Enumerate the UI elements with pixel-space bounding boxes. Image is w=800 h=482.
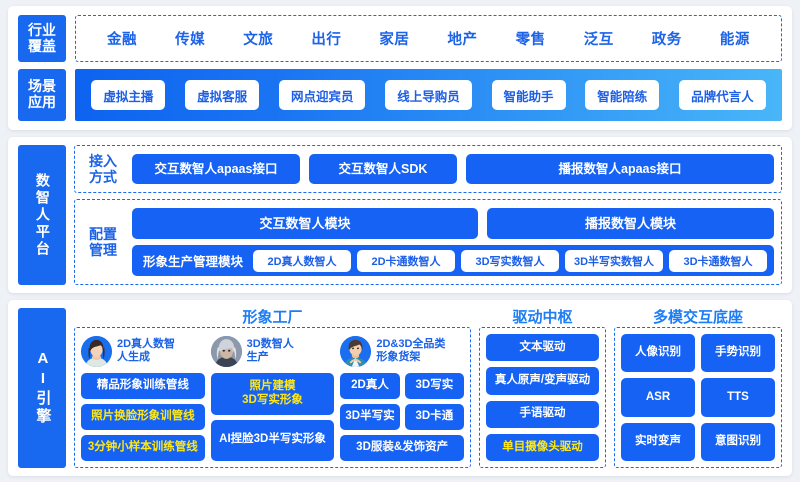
factory-group-heading: 3D数智人生产 [247,338,294,364]
factory-group-2d-real-person: 2D真人数智人生成 精品形象训练管线 照片换脸形象训管线 3分钟小样本训练管线 [81,334,205,461]
scene-item[interactable]: 智能陪练 [585,80,659,110]
production-item[interactable]: 3D半写实数智人 [565,250,663,272]
config-label-line-2: 管理 [82,242,124,258]
presenter-avatar-icon [340,336,371,367]
multimodal-base-title: 多模交互底座 [614,308,782,327]
factory-button-faceswap-pipeline[interactable]: 照片换脸形象训管线 [81,404,205,430]
multimodal-row: 实时变声 意图识别 [621,423,775,461]
scene-label-line-1: 场景 [28,79,56,95]
industry-label-line-1: 行业 [28,23,56,39]
multimodal-grid: 人像识别 手势识别 ASR TTS 实时变声 意图识别 [621,334,775,461]
industry-and-scene-section: 行业 覆盖 金融 传媒 文旅 出行 家居 地产 零售 泛互 政务 能源 场景 [8,6,792,130]
industry-item[interactable]: 泛互 [584,28,614,49]
config-module-interactive[interactable]: 交互数智人模块 [132,208,478,239]
scene-application-label: 场景 应用 [18,69,66,121]
drive-hub-title: 驱动中枢 [479,308,606,327]
asset-shelf-row: 2D真人 3D写实 [340,373,464,399]
access-method-label: 接入 方式 [82,153,124,185]
ai-engine-section: AI引擎 形象工厂 [8,300,792,476]
industry-coverage-row: 行业 覆盖 金融 传媒 文旅 出行 家居 地产 零售 泛互 政务 能源 [18,15,782,62]
industry-coverage-label: 行业 覆盖 [18,15,66,62]
config-label-line-1: 配置 [82,226,124,242]
multimodal-item-asr[interactable]: ASR [621,378,695,416]
industry-item[interactable]: 能源 [720,28,750,49]
config-management-block: 配置 管理 交互数智人模块 播报数智人模块 形象生产管理模块 2D真人数智人 2… [74,199,782,285]
access-item-sdk[interactable]: 交互数智人SDK [309,154,457,184]
multimodal-row: 人像识别 手势识别 [621,334,775,372]
multimodal-base-column: 多模交互底座 人像识别 手势识别 ASR TTS 实时变声 意 [614,308,782,468]
industry-label-line-2: 覆盖 [28,39,56,55]
factory-group-buttons: 照片建模3D写实形象 AI捏脸3D半写实形象 [211,373,335,461]
factory-button-ai-face-sculpt[interactable]: AI捏脸3D半写实形象 [211,420,335,462]
factory-group-header: 2D&3D全品类形象货架 [340,334,464,368]
industry-item[interactable]: 出行 [311,28,341,49]
factory-group-asset-shelf: 2D&3D全品类形象货架 2D真人 3D写实 3D半写实 3D卡通 3D [340,334,464,461]
scene-item[interactable]: 虚拟客服 [185,80,259,110]
platform-label: 数智人平台 [18,145,66,285]
asset-item-3d-realistic[interactable]: 3D写实 [405,373,464,399]
scene-item[interactable]: 智能助手 [492,80,566,110]
production-management-row: 形象生产管理模块 2D真人数智人 2D卡通数智人 3D写实数智人 3D半写实数智… [132,245,774,276]
factory-group-header: 3D数智人生产 [211,334,335,368]
asset-shelf-row: 3D半写实 3D卡通 [340,404,464,430]
multimodal-item-tts[interactable]: TTS [701,378,775,416]
access-label-line-2: 方式 [82,169,124,185]
config-management-items: 交互数智人模块 播报数智人模块 形象生产管理模块 2D真人数智人 2D卡通数智人… [132,208,774,276]
factory-group-buttons: 精品形象训练管线 照片换脸形象训管线 3分钟小样本训练管线 [81,373,205,461]
factory-button-premium-pipeline[interactable]: 精品形象训练管线 [81,373,205,399]
digital-human-architecture-diagram: 行业 覆盖 金融 传媒 文旅 出行 家居 地产 零售 泛互 政务 能源 场景 [0,0,800,482]
drive-button-monocular-camera[interactable]: 单目摄像头驱动 [486,434,599,461]
industry-item[interactable]: 地产 [448,28,478,49]
factory-button-photo-modeling[interactable]: 照片建模3D写实形象 [211,373,335,415]
image-factory-body: 2D真人数智人生成 精品形象训练管线 照片换脸形象训管线 3分钟小样本训练管线 [74,327,471,468]
factory-group-header: 2D真人数智人生成 [81,334,205,368]
industry-item[interactable]: 传媒 [175,28,205,49]
ai-engine-content: 形象工厂 [74,308,782,468]
industry-items-container: 金融 传媒 文旅 出行 家居 地产 零售 泛互 政务 能源 [75,15,782,62]
factory-group-heading: 2D&3D全品类形象货架 [376,338,445,364]
multimodal-item-face-recognition[interactable]: 人像识别 [621,334,695,372]
ai-engine-label: AI引擎 [18,308,66,468]
production-item[interactable]: 3D卡通数智人 [669,250,767,272]
production-item[interactable]: 2D真人数智人 [253,250,351,272]
drive-button-voice[interactable]: 真人原声/变声驱动 [486,367,599,394]
cg-face-avatar-icon [211,336,242,367]
asset-item-3d-clothing-hair[interactable]: 3D服装&发饰资产 [340,435,464,461]
multimodal-item-realtime-voice-change[interactable]: 实时变声 [621,423,695,461]
production-item[interactable]: 2D卡通数智人 [357,250,455,272]
config-module-broadcast[interactable]: 播报数智人模块 [487,208,774,239]
scene-item[interactable]: 网点迎宾员 [279,80,366,110]
multimodal-row: ASR TTS [621,378,775,416]
production-item[interactable]: 3D写实数智人 [461,250,559,272]
production-management-caption: 形象生产管理模块 [139,251,247,270]
drive-hub-column: 驱动中枢 文本驱动 真人原声/变声驱动 手语驱动 单目摄像头驱动 [479,308,606,468]
scene-label-line-2: 应用 [28,95,56,111]
industry-item[interactable]: 零售 [516,28,546,49]
image-factory-column: 形象工厂 [74,308,471,468]
scene-items-container: 虚拟主播 虚拟客服 网点迎宾员 线上导购员 智能助手 智能陪练 品牌代言人 [75,69,782,121]
drive-button-sign-language[interactable]: 手语驱动 [486,401,599,428]
industry-item[interactable]: 家居 [379,28,409,49]
config-modules-row: 交互数智人模块 播报数智人模块 [132,208,774,239]
factory-group-heading: 2D真人数智人生成 [117,338,175,364]
factory-group-3d-production: 3D数智人生产 照片建模3D写实形象 AI捏脸3D半写实形象 [211,334,335,461]
platform-content: 接入 方式 交互数智人apaas接口 交互数智人SDK 播报数智人apaas接口… [74,145,782,285]
scene-item[interactable]: 线上导购员 [385,80,472,110]
industry-item[interactable]: 金融 [107,28,137,49]
digital-human-platform-section: 数智人平台 接入 方式 交互数智人apaas接口 交互数智人SDK 播报数智人a… [8,137,792,293]
access-item-apaas-broadcast[interactable]: 播报数智人apaas接口 [466,154,774,184]
drive-hub-buttons: 文本驱动 真人原声/变声驱动 手语驱动 单目摄像头驱动 [486,334,599,461]
access-method-items: 交互数智人apaas接口 交互数智人SDK 播报数智人apaas接口 [132,154,774,184]
industry-item[interactable]: 政务 [652,28,682,49]
drive-button-text[interactable]: 文本驱动 [486,334,599,361]
asset-item-3d-semi-realistic[interactable]: 3D半写实 [340,404,399,430]
scene-application-row: 场景 应用 虚拟主播 虚拟客服 网点迎宾员 线上导购员 智能助手 智能陪练 品牌… [18,69,782,121]
image-factory-title: 形象工厂 [74,308,471,327]
multimodal-item-intent-recognition[interactable]: 意图识别 [701,423,775,461]
asset-item-3d-cartoon[interactable]: 3D卡通 [405,404,464,430]
factory-group-buttons: 2D真人 3D写实 3D半写实 3D卡通 3D服装&发饰资产 [340,373,464,461]
access-method-block: 接入 方式 交互数智人apaas接口 交互数智人SDK 播报数智人apaas接口 [74,145,782,193]
woman-avatar-icon [81,336,112,367]
factory-button-3min-sample-pipeline[interactable]: 3分钟小样本训练管线 [81,435,205,461]
drive-hub-body: 文本驱动 真人原声/变声驱动 手语驱动 单目摄像头驱动 [479,327,606,468]
multimodal-base-body: 人像识别 手势识别 ASR TTS 实时变声 意图识别 [614,327,782,468]
scene-item[interactable]: 品牌代言人 [679,80,766,110]
access-item-apaas-interactive[interactable]: 交互数智人apaas接口 [132,154,300,184]
access-label-line-1: 接入 [82,153,124,169]
industry-item[interactable]: 文旅 [243,28,273,49]
scene-item[interactable]: 虚拟主播 [91,80,165,110]
asset-item-2d-real[interactable]: 2D真人 [340,373,399,399]
config-management-label: 配置 管理 [82,226,124,258]
multimodal-item-gesture-recognition[interactable]: 手势识别 [701,334,775,372]
